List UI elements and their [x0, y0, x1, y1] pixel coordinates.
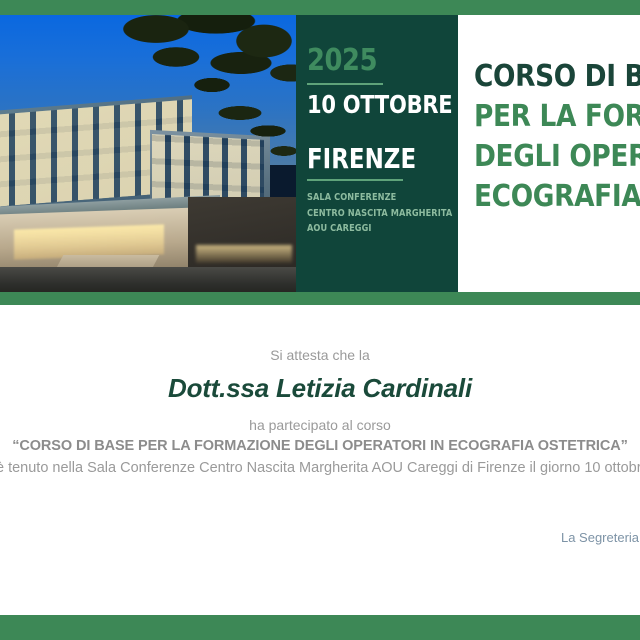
event-venue-line-2: CENTRO NASCITA MARGHERITA	[307, 206, 427, 222]
bottom-accent-bar	[0, 615, 640, 640]
course-title-line-4: ECOGRAFIA OSTETRICA	[474, 177, 640, 217]
course-title-line-1: CORSO DI BASE	[474, 57, 640, 97]
photo-side-structure	[188, 197, 296, 275]
event-year: 2025	[307, 46, 433, 76]
course-title-line-3: DEGLI OPERATORI IN	[474, 137, 640, 177]
venue-photo	[0, 15, 296, 292]
venue-detail-line: che si è tenuto nella Sala Conferenze Ce…	[0, 460, 640, 476]
course-title-block: CORSO DI BASE PER LA FORMAZIONE DEGLI OP…	[458, 15, 640, 292]
top-accent-bar	[0, 0, 640, 15]
event-city: FIRENZE	[307, 145, 427, 173]
event-date: 10 OTTOBRE	[307, 92, 430, 118]
signature-label: La Segreteria	[0, 530, 640, 545]
participation-label: ha partecipato al corso	[0, 417, 640, 433]
course-title-quoted: “CORSO DI BASE PER LA FORMAZIONE DEGLI O…	[0, 438, 640, 454]
photo-ground	[0, 267, 296, 292]
recipient-name: Dott.ssa Letizia Cardinali	[0, 373, 640, 404]
photo-side-light	[196, 245, 292, 263]
header-divider-bar	[0, 292, 640, 305]
event-venue-line-1: SALA CONFERENZE	[307, 190, 427, 206]
year-rule	[307, 83, 383, 85]
attestation-intro: Si attesta che la	[0, 347, 640, 363]
city-rule	[307, 179, 403, 181]
certificate-header: 2025 10 OTTOBRE FIRENZE SALA CONFERENZE …	[0, 15, 640, 292]
course-title-line-2: PER LA FORMAZIONE	[474, 97, 640, 137]
event-venue-line-3: AOU CAREGGI	[307, 221, 427, 237]
certificate-body: Si attesta che la Dott.ssa Letizia Cardi…	[0, 305, 640, 615]
event-info-panel: 2025 10 OTTOBRE FIRENZE SALA CONFERENZE …	[296, 15, 458, 292]
photo-tree-branch	[214, 101, 296, 165]
